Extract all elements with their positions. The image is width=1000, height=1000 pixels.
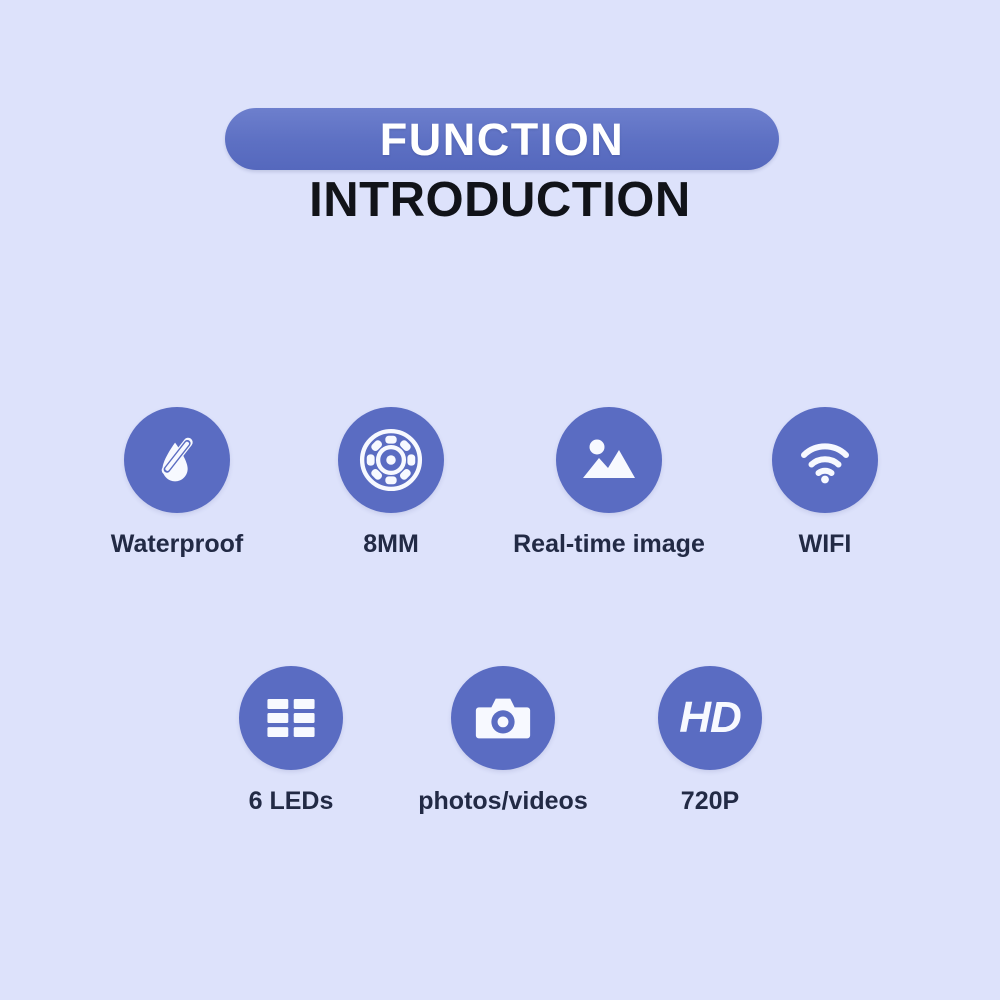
led-grid-icon: [262, 689, 320, 747]
image-icon-badge: [556, 407, 662, 513]
hd-icon-badge: HD: [658, 666, 762, 770]
promo-page: FUNCTION INTRODUCTION Waterproof: [0, 0, 1000, 1000]
feature-waterproof: Waterproof: [124, 407, 230, 567]
camera-icon-badge: [451, 666, 555, 770]
feature-label: photos/videos: [418, 789, 587, 814]
feature-8mm: 8MM: [338, 407, 444, 567]
picture-mountain-icon: [577, 428, 641, 492]
feature-720p: HD 720P: [658, 666, 762, 826]
feature-photos-videos: photos/videos: [451, 666, 555, 826]
feature-real-time-image: Real-time image: [556, 407, 662, 567]
feature-6-leds: 6 LEDs: [239, 666, 343, 826]
title-pill: FUNCTION: [225, 108, 779, 170]
wifi-icon: [793, 428, 857, 492]
water-drop-slash-icon: [146, 429, 208, 491]
feature-label: Real-time image: [513, 532, 705, 557]
page-title: FUNCTION: [380, 117, 624, 162]
wifi-icon-badge: [772, 407, 878, 513]
leds-icon-badge: [239, 666, 343, 770]
feature-label: 6 LEDs: [249, 789, 334, 814]
page-header: FUNCTION INTRODUCTION: [0, 0, 1000, 260]
hd-badge-icon: HD: [679, 696, 741, 740]
feature-label: WIFI: [799, 532, 852, 557]
feature-label: 8MM: [363, 532, 419, 557]
camera-icon: [472, 687, 534, 749]
lens-icon-badge: [338, 407, 444, 513]
camera-lens-head-icon: [358, 427, 424, 493]
waterproof-icon-badge: [124, 407, 230, 513]
feature-label: 720P: [681, 789, 739, 814]
feature-wifi: WIFI: [772, 407, 878, 567]
feature-label: Waterproof: [111, 532, 243, 557]
page-subtitle: INTRODUCTION: [0, 176, 1000, 225]
